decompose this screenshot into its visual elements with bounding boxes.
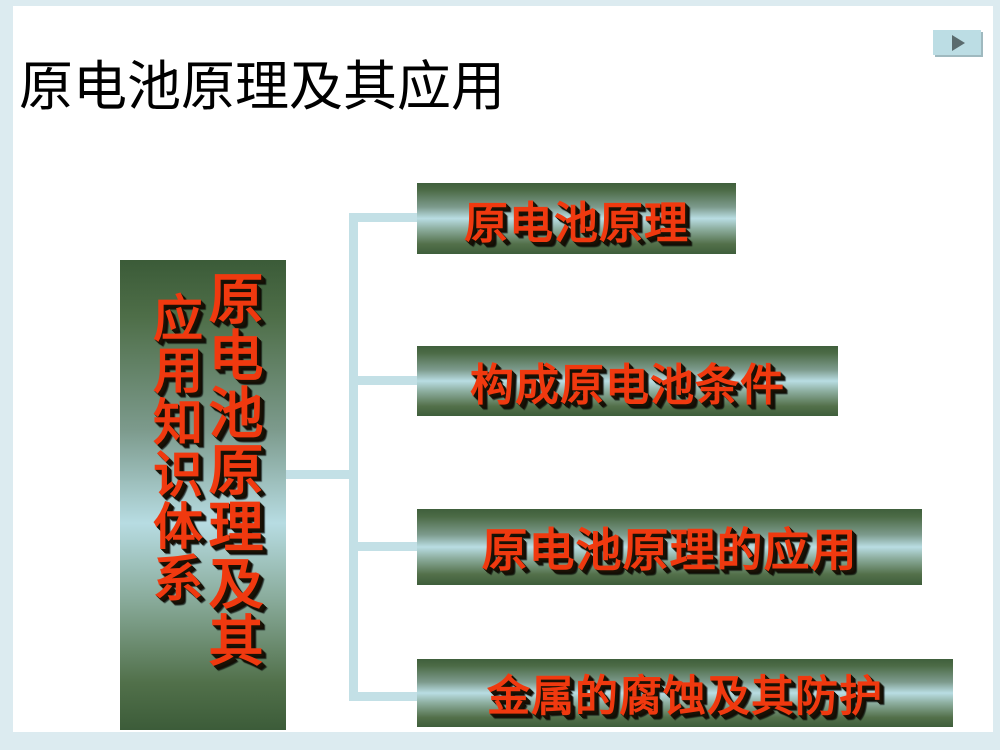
connector-root-stub <box>286 470 356 479</box>
branch-node-3-label: 原电池原理的应用 <box>417 509 922 585</box>
root-node[interactable]: 原电池原理及其 应用知识体系 <box>120 260 286 730</box>
branch-node-3[interactable]: 原电池原理的应用 <box>417 509 922 585</box>
triangle-right-icon <box>952 35 965 51</box>
root-node-columns: 原电池原理及其 应用知识体系 <box>120 260 286 730</box>
branch-node-4[interactable]: 金属的腐蚀及其防护 <box>417 659 953 727</box>
slide-canvas: 原电池原理及其应用 原电池原理及其 应用知识体系 原电池原理 <box>13 6 993 732</box>
connector-spine <box>349 213 358 701</box>
connector-branch-2 <box>349 376 417 385</box>
connector-branch-4 <box>349 692 417 701</box>
root-node-column-secondary: 应用知识体系 <box>146 292 201 604</box>
root-node-column-primary: 原电池原理及其 <box>201 270 260 669</box>
branch-node-4-label: 金属的腐蚀及其防护 <box>417 659 953 727</box>
branch-node-2-label: 构成原电池条件 <box>417 346 838 416</box>
page-title: 原电池原理及其应用 <box>19 56 739 118</box>
slide-frame: 原电池原理及其应用 原电池原理及其 应用知识体系 原电池原理 <box>0 0 1000 750</box>
branch-node-1[interactable]: 原电池原理 <box>417 183 736 254</box>
play-forward-button[interactable] <box>933 30 981 55</box>
branch-node-1-label: 原电池原理 <box>417 183 736 254</box>
connector-branch-3 <box>349 542 417 551</box>
connector-branch-1 <box>349 213 417 222</box>
branch-node-2[interactable]: 构成原电池条件 <box>417 346 838 416</box>
